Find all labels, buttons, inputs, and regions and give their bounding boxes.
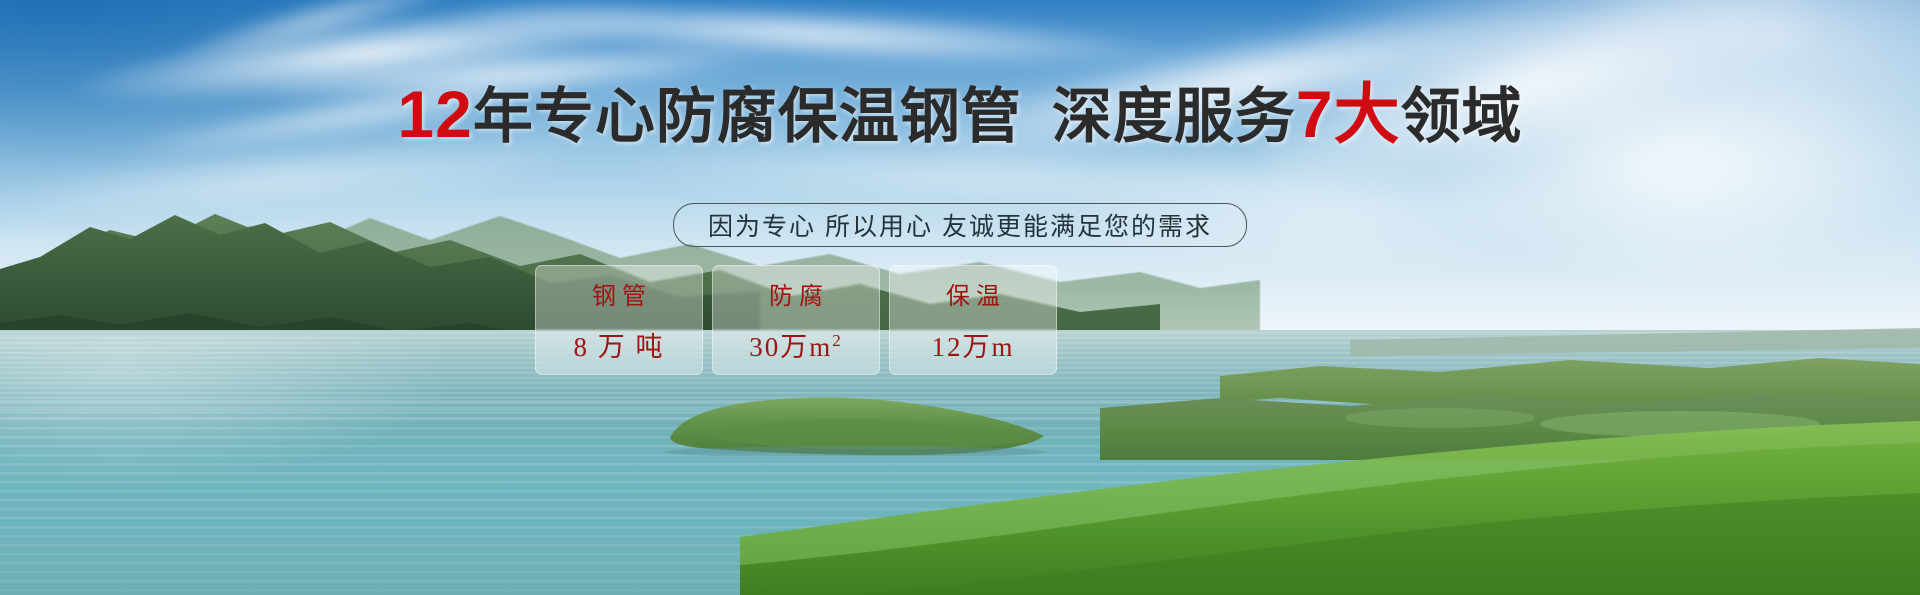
stat-value-superscript: 2 <box>832 331 843 350</box>
headline-part-one: 年专心防腐保温钢管 <box>473 83 1022 150</box>
headline-part-three: 领域 <box>1401 83 1523 150</box>
banner-headline: 12年专心防腐保温钢管深度服务7大领域 <box>0 82 1920 149</box>
subtitle-pill: 因为专心 所以用心 友诚更能满足您的需求 <box>673 203 1247 247</box>
subtitle-text: 因为专心 所以用心 友诚更能满足您的需求 <box>708 207 1212 243</box>
headline-years-number: 12 <box>397 77 472 151</box>
stat-card-label: 防腐 <box>763 276 829 311</box>
headline-fields-unit: 大 <box>1334 77 1401 151</box>
stat-card-value: 12万m <box>931 325 1014 364</box>
hero-banner: 12年专心防腐保温钢管深度服务7大领域 因为专心 所以用心 友诚更能满足您的需求… <box>0 0 1920 595</box>
stat-card-label: 保温 <box>940 276 1006 311</box>
stat-card-steel-pipe[interactable]: 钢管 8 万 吨 <box>535 265 703 375</box>
stat-card-anticorrosion[interactable]: 防腐 30万m2 <box>712 265 880 375</box>
stat-value-text: 30万m <box>749 332 832 362</box>
sky-haze-right <box>1160 0 1920 340</box>
stat-card-value: 8 万 吨 <box>574 325 665 364</box>
grass-foreground <box>740 405 1920 595</box>
stat-card-insulation[interactable]: 保温 12万m <box>889 265 1057 375</box>
stat-value-text: 8 万 吨 <box>574 332 665 362</box>
stat-value-text: 12万m <box>931 332 1014 362</box>
headline-part-two: 深度服务 <box>1052 83 1296 150</box>
stat-card-label: 钢管 <box>586 276 652 311</box>
headline-fields-number: 7 <box>1296 77 1334 151</box>
stat-card-group: 钢管 8 万 吨 防腐 30万m2 保温 12万m <box>535 265 1057 375</box>
stat-card-value: 30万m2 <box>749 325 843 364</box>
